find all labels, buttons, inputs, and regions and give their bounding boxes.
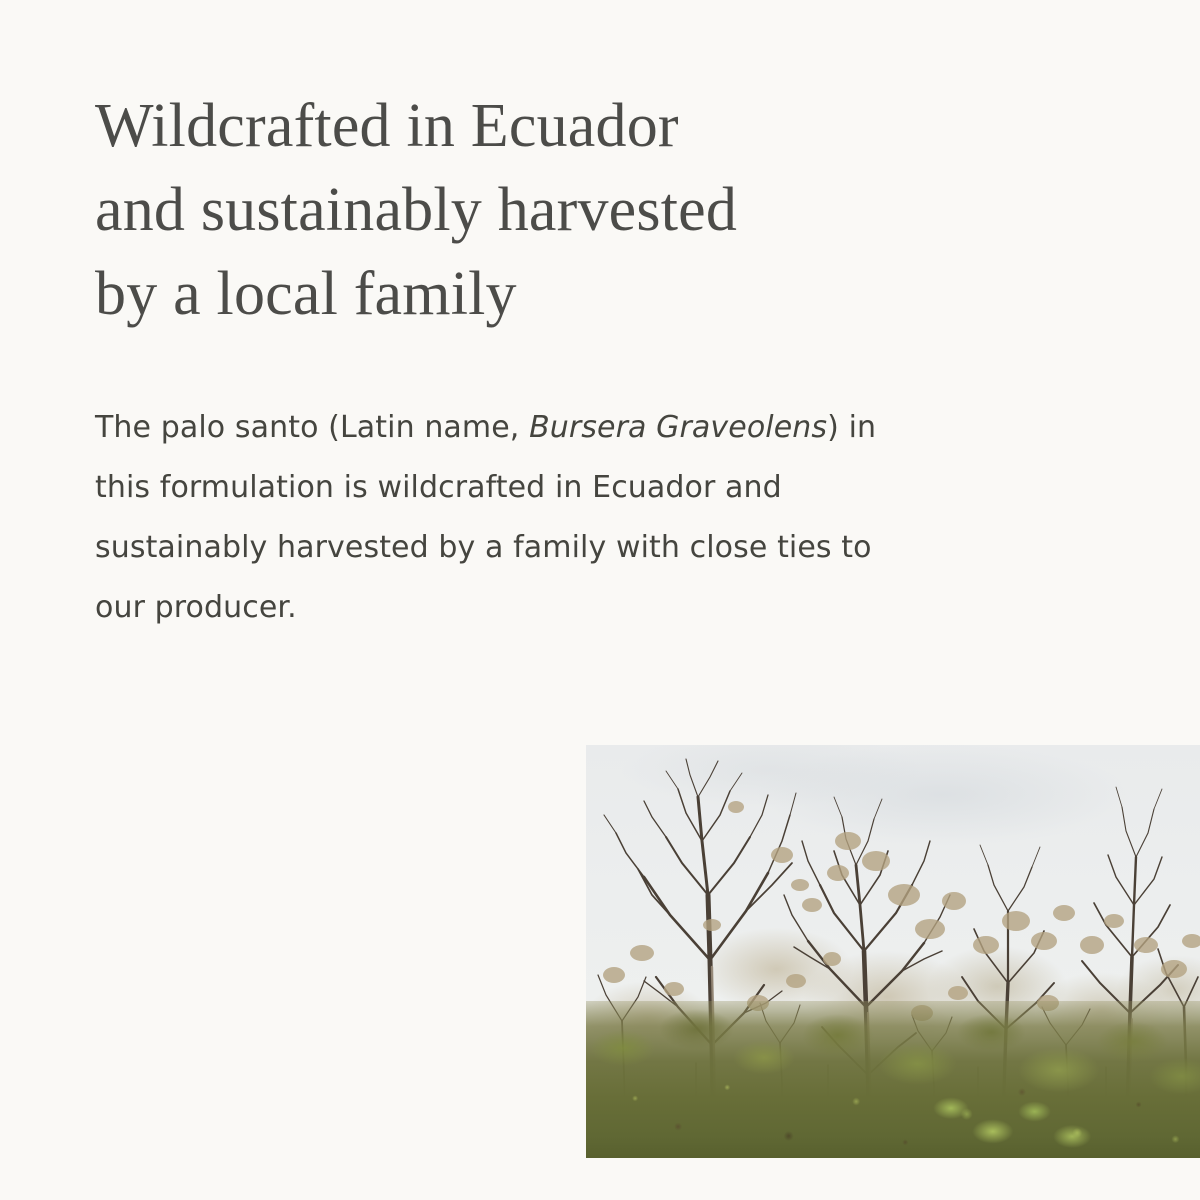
body-paragraph: The palo santo (Latin name, Bursera Grav…	[95, 398, 895, 638]
scientific-name: Bursera Graveolens	[529, 410, 827, 445]
dried-foliage-clusters	[603, 801, 1200, 1021]
bright-foliage-layer	[905, 1075, 1114, 1158]
page-title: Wildcrafted in Ecuador and sustainably h…	[95, 84, 915, 336]
marketing-panel: Wildcrafted in Ecuador and sustainably h…	[0, 0, 1200, 1200]
forest-photo	[586, 745, 1200, 1158]
body-text-part-1: The palo santo (Latin name,	[95, 410, 529, 445]
